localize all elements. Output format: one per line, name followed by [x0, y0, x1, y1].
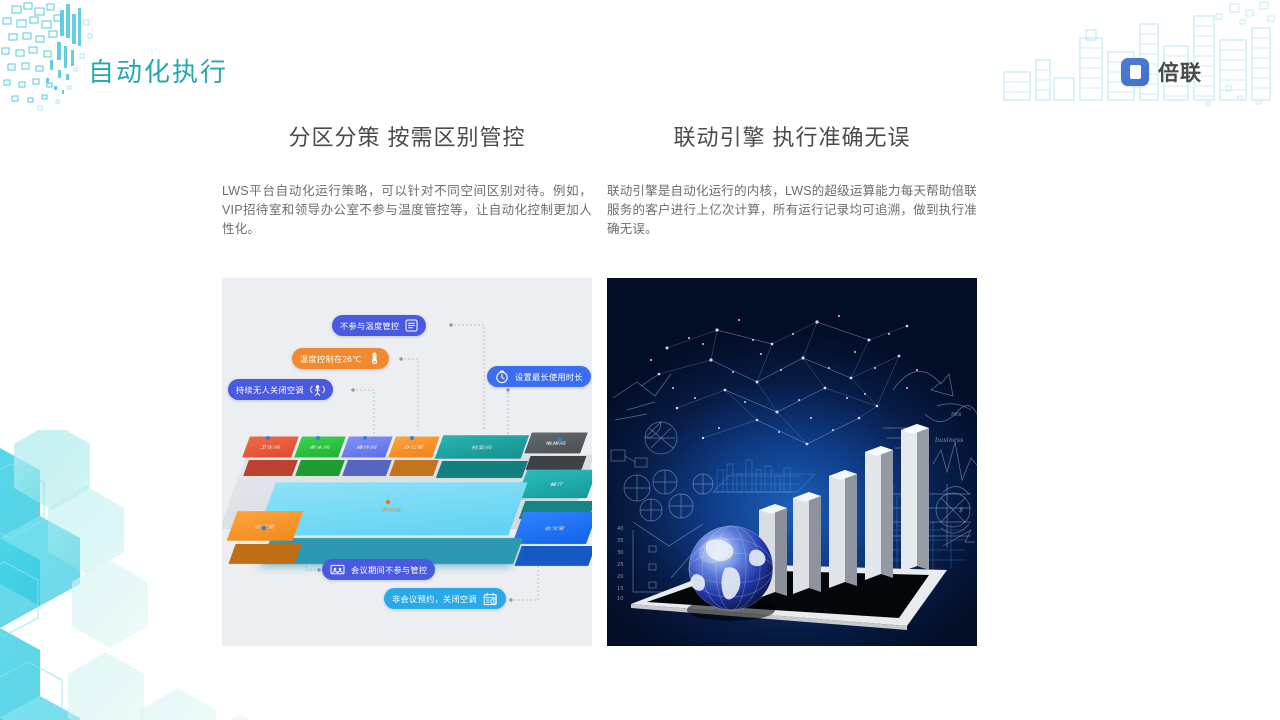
svg-text:20: 20 — [617, 574, 624, 580]
analytics-tech-image: 4035 3025 2015 10 — [607, 278, 977, 646]
svg-text:business: business — [935, 436, 964, 444]
tag-label: 温度控制在26℃ — [300, 353, 362, 365]
svg-text:30: 30 — [617, 550, 624, 556]
tag-label: 不参与温度管控 — [340, 320, 399, 332]
motion-sensor-icon — [310, 383, 325, 396]
tag-temperature-26[interactable]: 温度控制在26℃ — [292, 348, 389, 369]
svg-text:25: 25 — [617, 562, 624, 568]
svg-text:$: $ — [959, 506, 963, 514]
tag-no-temperature-control[interactable]: 不参与温度管控 — [332, 315, 426, 336]
document-list-icon — [405, 319, 418, 332]
tag-label: 非会议预约，关闭空调 — [392, 593, 477, 605]
tag-max-usage-duration[interactable]: 设置最长使用时长 — [487, 366, 591, 387]
clock-timer-icon — [495, 370, 509, 384]
slide-canvas: 自动化执行 倍联 分区分策 按需区别管控 LWS平台自动化运行策略，可以针对不同… — [0, 0, 1280, 720]
svg-text:res: res — [951, 410, 962, 418]
calendar-clock-icon — [483, 592, 498, 606]
svg-text:10: 10 — [617, 596, 624, 602]
column-left: 分区分策 按需区别管控 LWS平台自动化运行策略，可以针对不同空间区别对待。例如… — [222, 120, 592, 239]
column-left-body: LWS平台自动化运行策略，可以针对不同空间区别对待。例如，VIP招待室和领导办公… — [222, 182, 592, 239]
page-title: 自动化执行 — [88, 52, 228, 89]
svg-text:35: 35 — [617, 538, 624, 544]
brand-logo: 倍联 — [1121, 57, 1202, 87]
axis-tick-labels: 4035 3025 2015 10 — [617, 526, 624, 602]
brand-name: 倍联 — [1158, 57, 1202, 87]
rounded-square-logo-icon — [1121, 58, 1149, 86]
column-right-heading: 联动引擎 执行准确无误 — [607, 120, 977, 152]
hexagon-pattern-icon — [0, 430, 250, 720]
floorplan-image: 卫生间 茶水间 操作间 办公室 档案间 — [222, 278, 592, 646]
tech-visual-graphics: 4035 3025 2015 10 — [607, 278, 977, 646]
tag-meeting-exempt[interactable]: 会议期间不参与管控 — [322, 559, 435, 580]
tag-label: 设置最长使用时长 — [515, 371, 583, 383]
column-left-heading: 分区分策 按需区别管控 — [222, 120, 592, 152]
globe — [687, 526, 775, 621]
tag-label: 持续无人关闭空调 — [236, 384, 304, 396]
city-skyline-icon — [990, 0, 1280, 110]
thermometer-icon — [368, 352, 381, 365]
tag-label: 会议期间不参与管控 — [351, 564, 427, 576]
column-right-body: 联动引擎是自动化运行的内核，LWS的超级运算能力每天帮助倍联服务的客户进行上亿次… — [607, 182, 977, 239]
svg-text:15: 15 — [617, 586, 624, 592]
column-right: 联动引擎 执行准确无误 联动引擎是自动化运行的内核，LWS的超级运算能力每天帮助… — [607, 120, 977, 239]
svg-text:40: 40 — [617, 526, 624, 532]
tablet-device — [631, 564, 947, 630]
tag-unoccupied-shutdown[interactable]: 持续无人关闭空调 — [228, 379, 333, 400]
tag-no-booking-shutdown[interactable]: 非会议预约，关闭空调 — [384, 588, 506, 609]
meeting-room-icon — [330, 563, 345, 576]
map-dots — [650, 315, 918, 445]
